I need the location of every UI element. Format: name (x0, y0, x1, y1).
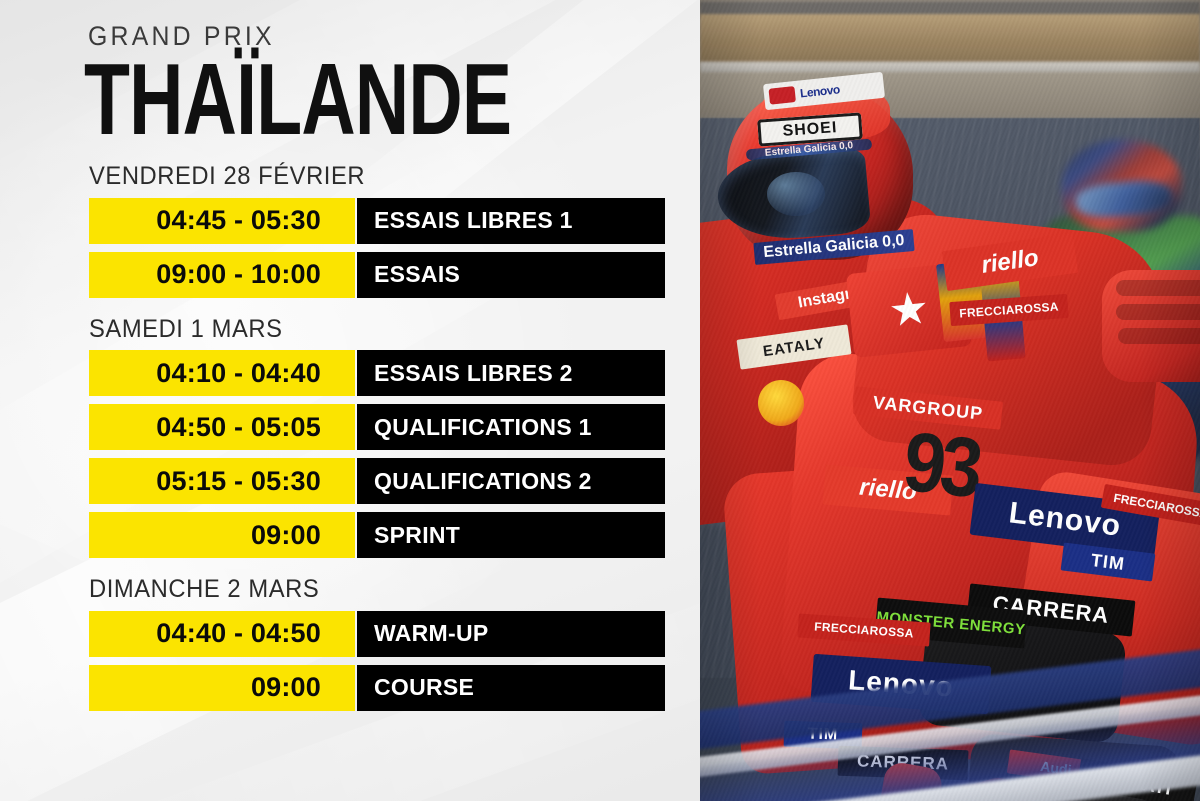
session-row[interactable]: 05:15 - 05:30QUALIFICATIONS 2 (89, 458, 665, 504)
day-heading: SAMEDI 1 MARS (89, 316, 669, 344)
session-time: 09:00 (89, 665, 355, 711)
session-name: QUALIFICATIONS 1 (357, 404, 665, 450)
day-block: DIMANCHE 2 MARS04:40 - 04:50WARM-UP09:00… (0, 576, 700, 711)
frecciarossa-label: FRECCIAROSSA (814, 620, 914, 641)
visor-reflection (767, 172, 825, 216)
session-row[interactable]: 09:00COURSE (89, 665, 665, 711)
shell-logo-icon (758, 380, 804, 426)
session-row[interactable]: 04:45 - 05:30ESSAIS LIBRES 1 (89, 198, 665, 244)
session-name: ESSAIS (357, 252, 665, 298)
ducati-mark-icon (768, 86, 796, 105)
glove-knuckle (1116, 304, 1200, 320)
session-time: 09:00 (89, 512, 355, 558)
glove-knuckle (1116, 280, 1200, 296)
day-heading: DIMANCHE 2 MARS (89, 576, 669, 604)
eataly-label: EATALY (762, 334, 826, 360)
star-icon: ★ (889, 285, 929, 334)
track-gravel-strip (700, 14, 1200, 62)
riello-label: riello (980, 244, 1041, 280)
session-row[interactable]: 04:40 - 04:50WARM-UP (89, 611, 665, 657)
frecciarossa-label: FRECCIAROSSA (959, 300, 1059, 321)
hero-photo: Estrella Galicia 0,0 SHOEI Lenovo Estrel… (700, 0, 1200, 801)
session-time: 04:50 - 05:05 (89, 404, 355, 450)
session-name: COURSE (357, 665, 665, 711)
schedule-list: VENDREDI 28 FÉVRIER04:45 - 05:30ESSAIS L… (0, 163, 700, 729)
day-heading: VENDREDI 28 FÉVRIER (89, 163, 669, 191)
session-time: 04:45 - 05:30 (89, 198, 355, 244)
schedule-panel: GRAND PRIX THAÏLANDE VENDREDI 28 FÉVRIER… (0, 0, 700, 801)
session-row[interactable]: 04:10 - 04:40ESSAIS LIBRES 2 (89, 350, 665, 396)
race-schedule-poster: GRAND PRIX THAÏLANDE VENDREDI 28 FÉVRIER… (0, 0, 1200, 801)
session-row[interactable]: 09:00 - 10:00ESSAIS (89, 252, 665, 298)
tim-label: TIM (1090, 550, 1126, 575)
session-name: WARM-UP (357, 611, 665, 657)
glove-knuckle (1118, 328, 1200, 344)
session-time: 04:10 - 04:40 (89, 350, 355, 396)
page-title: THAÏLANDE (84, 52, 511, 147)
session-time: 05:15 - 05:30 (89, 458, 355, 504)
session-name: ESSAIS LIBRES 1 (357, 198, 665, 244)
session-name: SPRINT (357, 512, 665, 558)
session-time: 09:00 - 10:00 (89, 252, 355, 298)
lenovo-helmet-label: Lenovo (799, 82, 840, 100)
session-name: QUALIFICATIONS 2 (357, 458, 665, 504)
day-block: VENDREDI 28 FÉVRIER04:45 - 05:30ESSAIS L… (0, 163, 700, 298)
day-block: SAMEDI 1 MARS04:10 - 04:40ESSAIS LIBRES … (0, 316, 700, 559)
session-time: 04:40 - 04:50 (89, 611, 355, 657)
session-row[interactable]: 09:00SPRINT (89, 512, 665, 558)
session-row[interactable]: 04:50 - 05:05QUALIFICATIONS 1 (89, 404, 665, 450)
session-name: ESSAIS LIBRES 2 (357, 350, 665, 396)
